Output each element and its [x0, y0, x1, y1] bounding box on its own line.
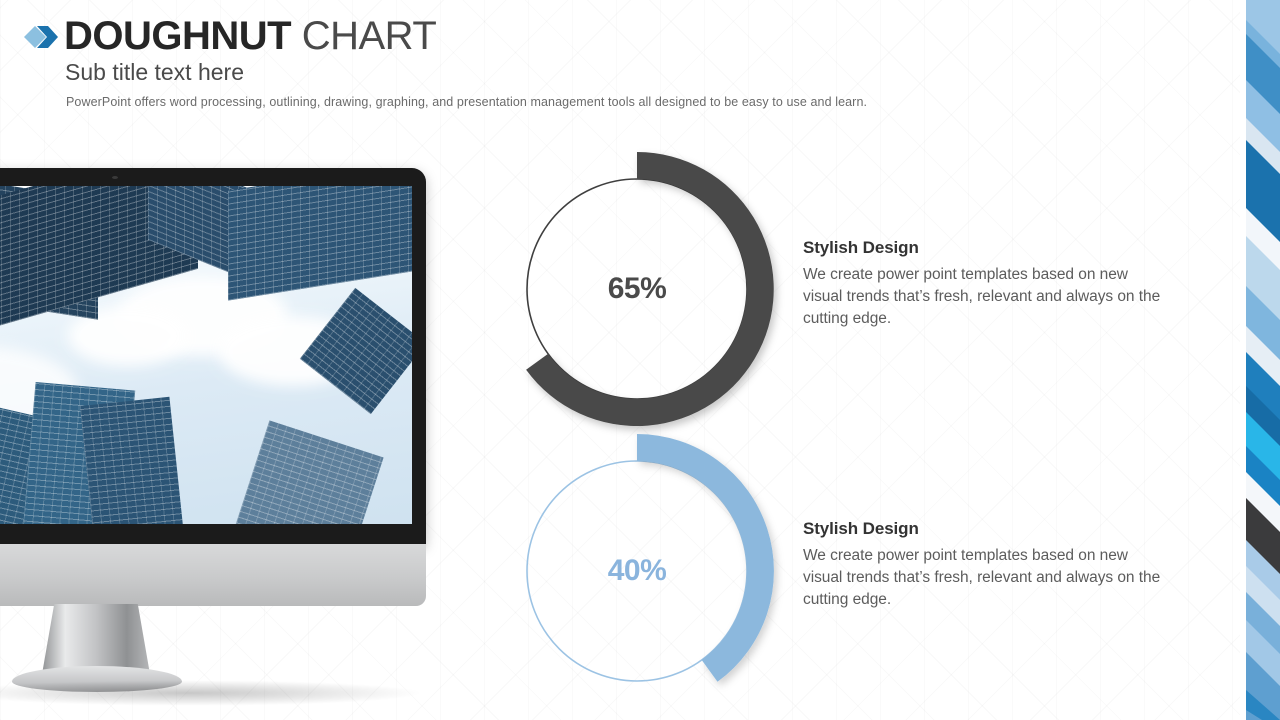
feature-item-1-title: Stylish Design: [803, 238, 1163, 258]
monitor-shadow: [0, 680, 424, 706]
page-subtitle: Sub title text here: [65, 59, 244, 86]
monitor-bezel: [0, 168, 426, 544]
decorative-chevron-panel: [1240, 0, 1280, 720]
monitor-illustration: [0, 168, 426, 613]
city-skyscrapers-photo: [0, 186, 412, 524]
monitor-screen: [0, 186, 412, 524]
slide: DOUGHNUT CHART Sub title text here Power…: [0, 0, 1280, 720]
decor-panel-edge: [1240, 0, 1243, 720]
feature-item-2: Stylish Design We create power point tem…: [803, 519, 1163, 611]
feature-item-2-body: We create power point templates based on…: [803, 545, 1163, 611]
monitor-chin: [0, 544, 426, 606]
doughnut-chart-1: 65%: [500, 152, 774, 426]
page-description: PowerPoint offers word processing, outli…: [66, 95, 867, 109]
doughnut-value-label-1: 65%: [500, 152, 774, 426]
page-title-light: CHART: [291, 14, 436, 58]
page-title: DOUGHNUT CHART: [64, 11, 436, 61]
diamond-arrow-icon: [24, 24, 58, 50]
feature-item-1: Stylish Design We create power point tem…: [803, 238, 1163, 330]
slide-header: DOUGHNUT CHART Sub title text here Power…: [0, 0, 900, 130]
webcam-icon: [112, 176, 118, 179]
doughnut-chart-2: 40%: [500, 434, 774, 708]
feature-item-2-title: Stylish Design: [803, 519, 1163, 539]
doughnut-value-label-2: 40%: [500, 434, 774, 708]
page-title-bold: DOUGHNUT: [64, 14, 291, 58]
feature-item-1-body: We create power point templates based on…: [803, 264, 1163, 330]
